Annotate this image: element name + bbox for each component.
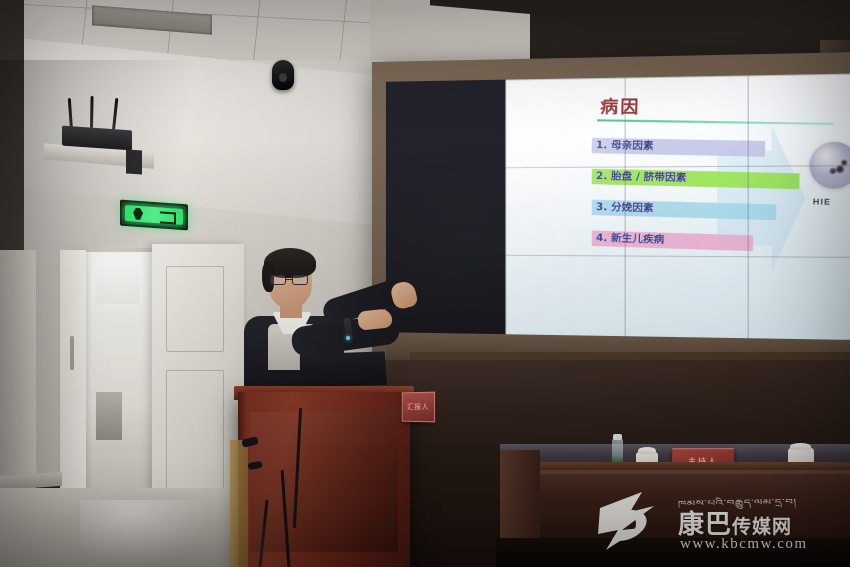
podium-front-face xyxy=(250,412,398,552)
slide-bar-label-3: 3. 分娩因素 xyxy=(596,198,654,215)
slide-title: 病因 xyxy=(600,92,641,118)
slide-bar-row: 3. 分娩因素 xyxy=(585,199,850,225)
podium-placard-text: 汇报人 xyxy=(403,393,435,422)
wall-mounted-box xyxy=(126,149,142,174)
router-antenna-icon xyxy=(90,96,94,128)
presentation-screen: 病因 1. 母亲因素 2. 胎盘 / 脐带因素 xyxy=(505,73,850,340)
door-inset-upper xyxy=(166,266,224,352)
slide-bar-row: 4. 新生儿疾病 xyxy=(585,231,850,257)
photo-scene: 病因 1. 母亲因素 2. 胎盘 / 脐带因素 xyxy=(0,0,850,567)
slide-bar-label-4: 4. 新生儿疾病 xyxy=(596,229,665,247)
hie-caption: HIE xyxy=(813,197,832,207)
podium-placard: 汇报人 xyxy=(402,392,435,423)
video-wall-inner: 病因 1. 母亲因素 2. 胎盘 / 脐带因素 xyxy=(386,73,850,340)
slide-content: 病因 1. 母亲因素 2. 胎盘 / 脐带因素 xyxy=(505,73,850,340)
presenter-glasses-icon xyxy=(270,275,311,285)
front-table-molding xyxy=(500,470,850,474)
glasses-lens-left xyxy=(270,275,286,285)
exit-sign xyxy=(120,200,188,231)
corridor-object xyxy=(96,392,122,440)
slide-bar-label-2: 2. 胎盘 / 脐带因素 xyxy=(596,167,687,185)
dome-camera-icon xyxy=(272,60,294,90)
water-bottle-cap xyxy=(613,434,622,440)
slide-bar-label-1: 1. 母亲因素 xyxy=(596,136,654,153)
side-curtain xyxy=(230,440,248,567)
exit-sign-pictogram-icon xyxy=(125,205,183,225)
corridor-window xyxy=(96,258,140,304)
front-table-base xyxy=(496,538,850,567)
floor-reflection xyxy=(80,500,210,566)
glasses-lens-right xyxy=(292,275,308,285)
front-table-left-column xyxy=(500,450,540,550)
door-handle[interactable] xyxy=(70,336,74,370)
left-wall-strip xyxy=(0,250,36,490)
front-table-lip xyxy=(500,462,850,470)
microphone-led-icon xyxy=(346,336,350,340)
open-door-leaf[interactable] xyxy=(60,250,86,526)
video-wall: 病因 1. 母亲因素 2. 胎盘 / 脐带因素 xyxy=(372,52,850,371)
